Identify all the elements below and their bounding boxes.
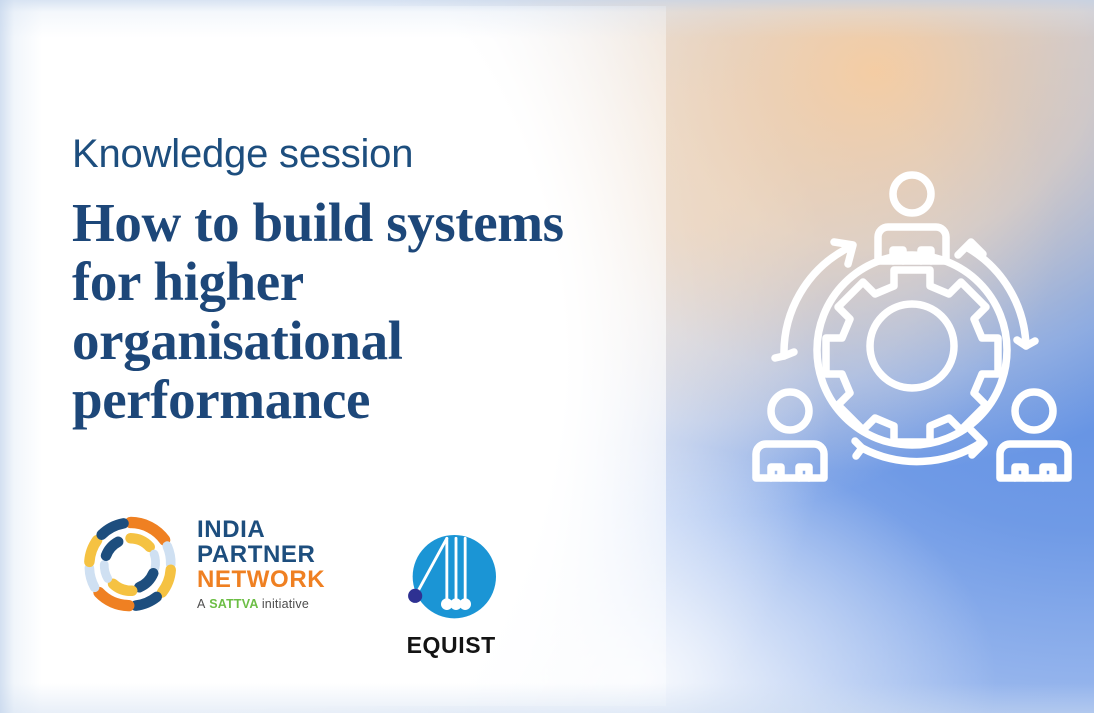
eyebrow-label: Knowledge session <box>72 132 692 177</box>
ipn-tagline-brand: SATTVA <box>209 597 258 611</box>
ipn-circular-arcs-icon <box>78 512 183 617</box>
page-title: How to build systems for higher organisa… <box>72 193 672 430</box>
logo-row: INDIA PARTNER NETWORK A SATTVA initiativ… <box>78 512 501 659</box>
equist-logo: EQUIST <box>401 512 501 659</box>
equist-newtons-cradle-icon <box>401 530 501 630</box>
ipn-tagline: A SATTVA initiative <box>197 598 325 611</box>
equist-wordmark: EQUIST <box>407 632 496 659</box>
ipn-word-network: NETWORK <box>197 568 325 593</box>
ipn-word-india: INDIA <box>197 518 325 543</box>
headline-line-1: How to build systems <box>72 192 564 253</box>
title-block: Knowledge session How to build systems f… <box>72 132 692 429</box>
ipn-tagline-suffix: initiative <box>262 597 309 611</box>
ipn-word-partner: PARTNER <box>197 543 325 568</box>
teamwork-gear-cycle-icon <box>742 160 1082 490</box>
india-partner-network-logo: INDIA PARTNER NETWORK A SATTVA initiativ… <box>78 512 325 617</box>
headline-line-2: for higher <box>72 251 304 312</box>
headline-line-3: organisational <box>72 310 403 371</box>
ipn-wordmark: INDIA PARTNER NETWORK A SATTVA initiativ… <box>197 518 325 611</box>
slide-canvas: Knowledge session How to build systems f… <box>0 0 1094 713</box>
headline-line-4: performance <box>72 369 370 430</box>
ipn-tagline-prefix: A <box>197 597 206 611</box>
